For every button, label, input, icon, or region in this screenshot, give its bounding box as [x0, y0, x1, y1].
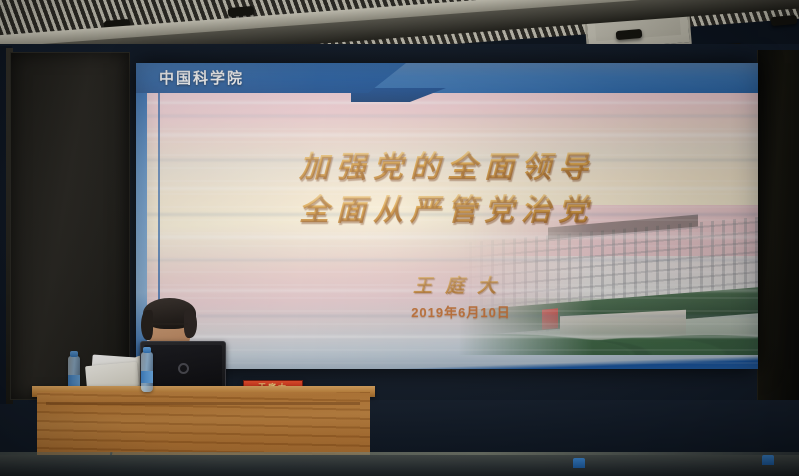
scan-streak	[136, 133, 758, 137]
water-bottle	[141, 352, 153, 392]
floor-object	[762, 455, 774, 465]
slide-title-line-2: 全面从严管党治党	[136, 190, 758, 233]
organization-label: 中国科学院	[159, 67, 244, 88]
right-acoustic-panel	[757, 50, 799, 405]
bottle-label	[141, 371, 153, 383]
scan-streak	[136, 259, 758, 261]
scan-streak	[136, 101, 758, 104]
ceiling-fixture-icon	[771, 15, 798, 26]
glasses-icon	[152, 323, 188, 332]
slide-title-block: 加强党的全面领导 全面从严管党治党	[136, 147, 758, 232]
floor	[0, 455, 799, 476]
slide-speaker-name: 王庭大	[351, 271, 571, 298]
bottle-cap	[70, 351, 78, 357]
slide-title-line-1: 加强党的全面领导	[136, 147, 758, 190]
floor-object	[573, 458, 585, 468]
bottle-cap	[143, 347, 151, 353]
slide-date: 2019年6月10日	[351, 302, 571, 321]
stage-backdrop	[370, 400, 799, 458]
slide-header-band: 中国科学院	[136, 63, 758, 93]
lecture-hall-photo: 中国科学院 加强党的全面领导 全面从严管党治党 王庭大 2019年6月10日	[0, 0, 799, 476]
desk-panel-seam	[46, 402, 360, 405]
laptop-logo-icon	[178, 363, 189, 374]
scan-streak	[136, 115, 758, 117]
scan-streak	[136, 235, 758, 239]
